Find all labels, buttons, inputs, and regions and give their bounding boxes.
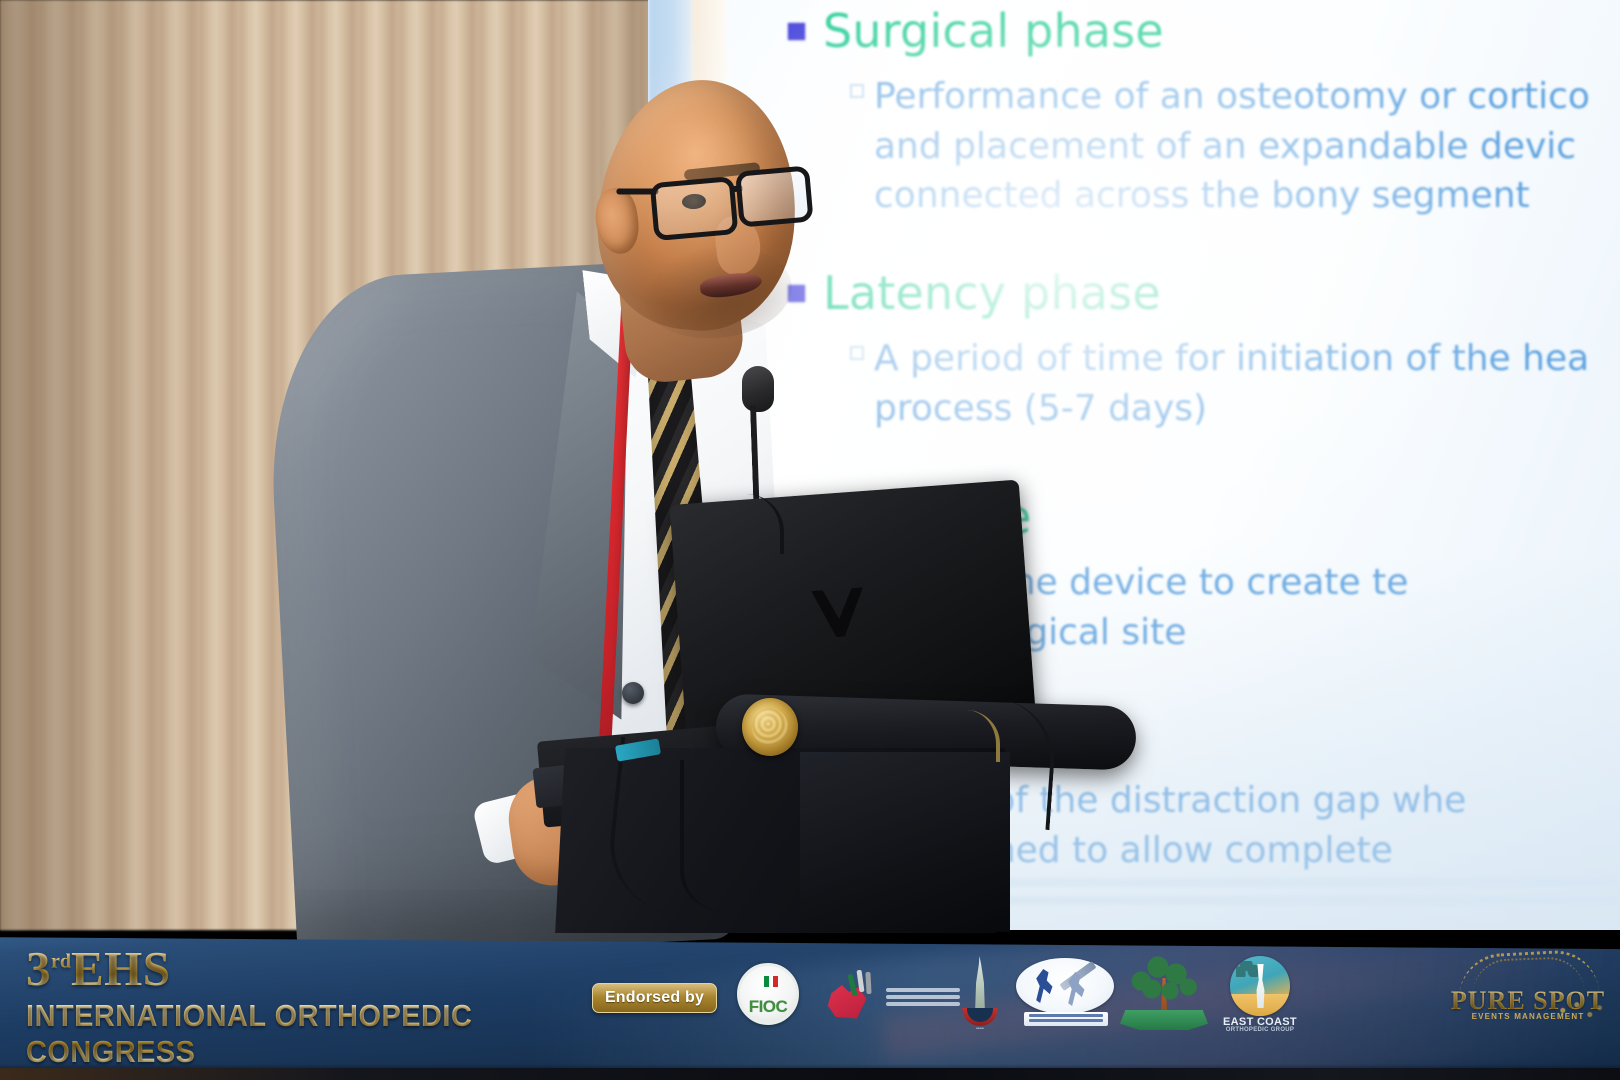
- phase-sub-row: Performance of an osteotomy or cortico a…: [850, 72, 1590, 221]
- coast-circle-icon: [1230, 956, 1290, 1016]
- glasses-lens-right: [735, 165, 814, 227]
- tower-icon: [973, 956, 987, 1014]
- podium-gold-emblem: [742, 698, 798, 756]
- tree-ribbon-banner: [1120, 1010, 1208, 1030]
- pure-spot-logo: PURE SPOT EVENTS MANAGEMENT: [1448, 952, 1608, 1036]
- tree-canopy-icon: [1126, 956, 1202, 1006]
- phase-title: Surgical phase: [823, 4, 1164, 58]
- burj-al-arab-logo: ••••: [960, 956, 1000, 1032]
- east-coast-logo: EAST COAST ORTHOPEDIC GROUP: [1216, 956, 1304, 1034]
- fioc-logo-text: FIOC: [749, 997, 788, 1017]
- burj-logo-caption: ••••: [960, 1026, 1000, 1032]
- phase-body-text: Performance of an osteotomy or cortico a…: [874, 72, 1590, 221]
- hollow-square-bullet-icon: [850, 84, 864, 98]
- phase-heading-row: Surgical phase: [788, 4, 1590, 58]
- laptop-v-logo-icon: [811, 587, 866, 639]
- uae-orthopedic-society-logo: [1016, 958, 1114, 1030]
- jacket-button: [622, 682, 644, 704]
- phase-body-text: A period of time for initiation of the h…: [874, 334, 1589, 433]
- fioc-flag-icon: [764, 976, 778, 987]
- arabic-society-text: [886, 988, 960, 1009]
- congress-banner: 3rdEHS INTERNATIONAL ORTHOPEDIC CONGRESS…: [0, 910, 1620, 1080]
- phase-sub-row: A period of time for initiation of the h…: [850, 334, 1589, 433]
- cable-center: [680, 760, 740, 910]
- society-name-strip: [1024, 1012, 1108, 1026]
- fioc-logo: FIOC: [737, 963, 799, 1025]
- phase-title: Latency phase: [823, 266, 1161, 320]
- east-coast-subtitle: ORTHOPEDIC GROUP: [1216, 1027, 1304, 1033]
- sponsor-logo-row: FIOC ••••: [0, 910, 1620, 1080]
- palm-tree-icon: [1236, 961, 1258, 977]
- podium-front-panel: [800, 752, 1010, 932]
- square-bullet-icon: [788, 23, 805, 40]
- slide-phase-latency: Latency phase A period of time for initi…: [788, 266, 1589, 433]
- tree-society-logo: [1120, 956, 1208, 1032]
- emirates-hand-surgery-society-logo: [820, 970, 882, 1020]
- phase-heading-row: Latency phase: [788, 266, 1589, 320]
- hollow-square-bullet-icon: [850, 346, 864, 360]
- glasses-lens-left: [650, 176, 739, 241]
- pure-spot-subtitle: EVENTS MANAGEMENT: [1448, 1012, 1608, 1021]
- stage-floor-strip: [0, 1068, 1620, 1080]
- slide-phase-surgical: Surgical phase Performance of an osteoto…: [788, 4, 1590, 221]
- curtain-shadow-left: [0, 0, 240, 930]
- presentation-photo: Surgical phase Performance of an osteoto…: [0, 0, 1620, 1080]
- hand-fingers-icon: [850, 970, 876, 996]
